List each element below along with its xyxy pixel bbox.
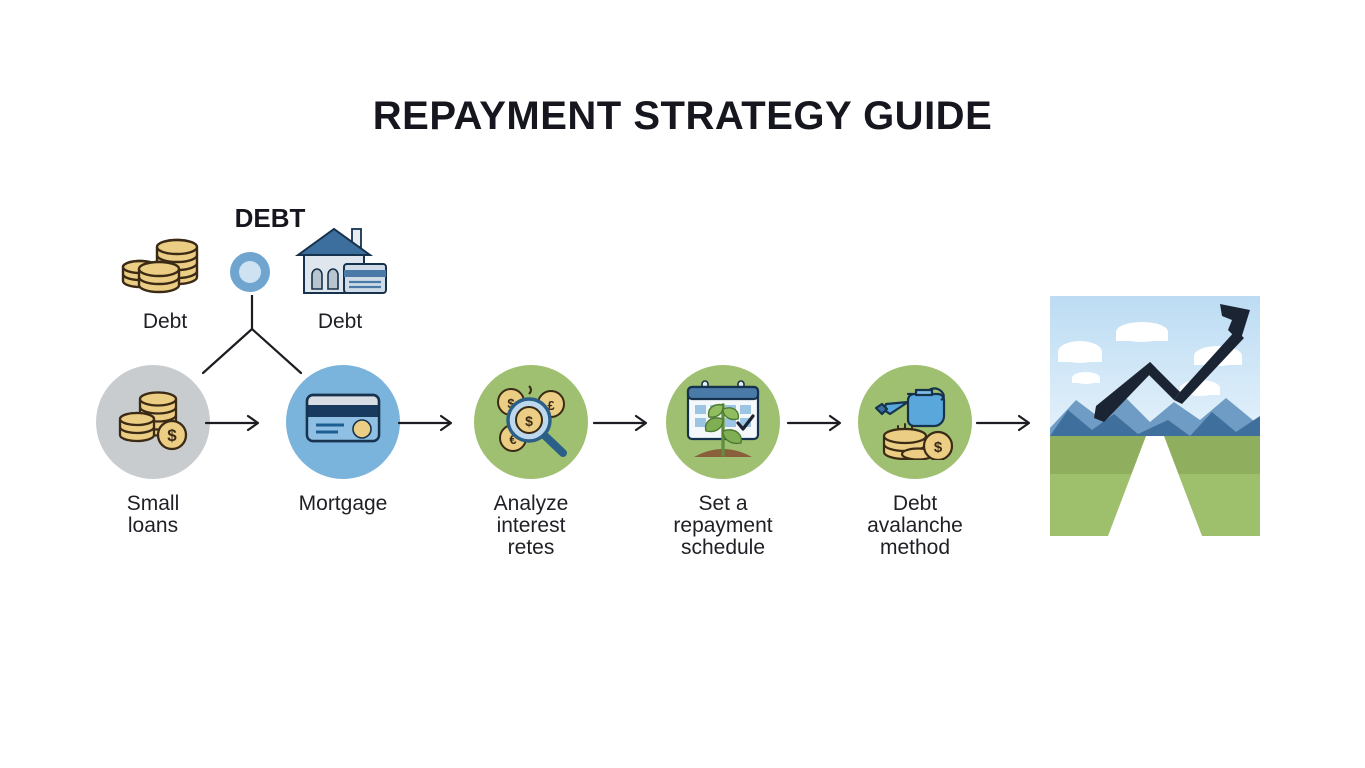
y-branch-connector-icon (195, 295, 310, 375)
flow-step-analyze-interest[interactable]: $ £ € $ Analyze interest retes (456, 365, 606, 559)
calendar-plant-icon (680, 379, 766, 466)
flow-step-small-loans[interactable]: $ Small loans (78, 365, 228, 537)
credit-card-icon (302, 391, 384, 454)
flow-step-repayment-schedule[interactable]: Set a repayment schedule (648, 365, 798, 559)
flow-step-label: Small loans (78, 493, 228, 537)
svg-text:$: $ (525, 413, 533, 429)
landscape-growth-arrow-icon (1050, 296, 1260, 536)
right-arrow-icon (204, 413, 266, 433)
coins-dollar-icon: $ (114, 387, 192, 458)
step-circle: $ (96, 365, 210, 479)
right-arrow-icon (397, 413, 459, 433)
magnifier-coins-icon: $ £ € $ (489, 380, 573, 465)
page-title: REPAYMENT STRATEGY GUIDE (0, 96, 1365, 136)
watering-can-coins-icon: $ (872, 380, 958, 465)
debt-cluster: DEBT (100, 195, 400, 375)
right-arrow-icon (592, 413, 654, 433)
step-circle: $ (858, 365, 972, 479)
flow-step-label: Debt avalanche method (840, 493, 990, 559)
flow-step-label: Analyze interest retes (456, 493, 606, 559)
step-circle: $ £ € $ (474, 365, 588, 479)
right-arrow-icon (975, 413, 1037, 433)
step-circle (286, 365, 400, 479)
blue-ring-node-icon (228, 250, 272, 294)
flow-step-mortgage[interactable]: Mortgage (268, 365, 418, 515)
right-arrow-icon (786, 413, 848, 433)
flow-step-debt-avalanche[interactable]: $ Debt avalanche method (840, 365, 990, 559)
svg-text:$: $ (167, 426, 177, 445)
step-circle (666, 365, 780, 479)
flow-step-label: Mortgage (268, 493, 418, 515)
flow-step-label: Set a repayment schedule (648, 493, 798, 559)
svg-text:$: $ (934, 439, 943, 456)
